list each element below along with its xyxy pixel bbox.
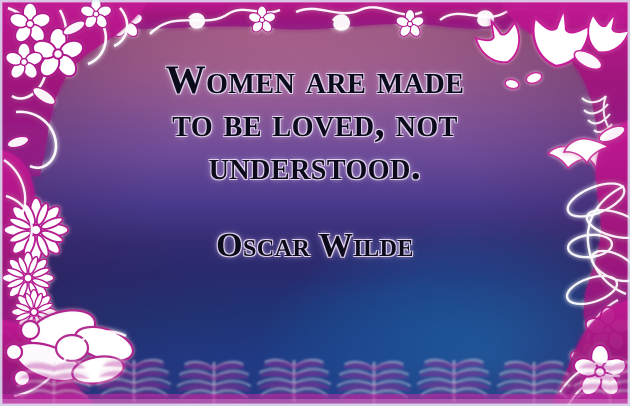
quote-block: Women are made to be loved, not understo… <box>0 58 630 265</box>
attribution-block: Oscar Wilde <box>0 227 630 265</box>
quote-line-3: understood. <box>0 144 630 187</box>
quote-line-2: to be loved, not <box>0 101 630 144</box>
quote-card: Women are made to be loved, not understo… <box>0 0 630 406</box>
quote-line-1: Women are made <box>0 58 630 101</box>
attribution-name: Oscar Wilde <box>0 227 630 265</box>
